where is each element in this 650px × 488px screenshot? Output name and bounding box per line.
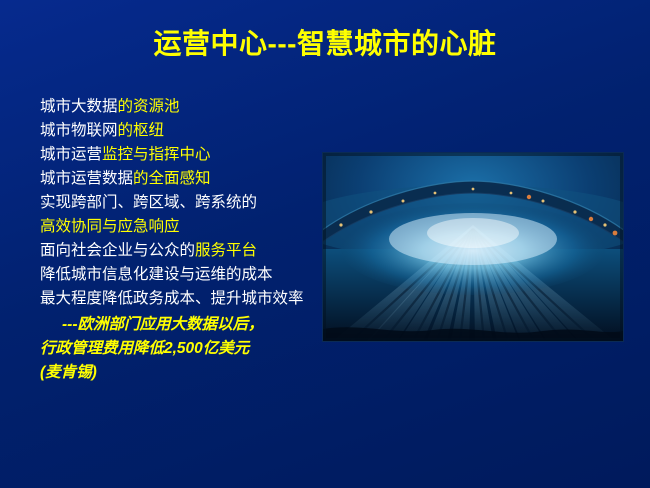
bullet-text-plain: 城市运营数据 <box>40 170 133 187</box>
bullet-text-plain: 城市物联网 <box>40 122 118 139</box>
list-item: 面向社会企业与公众的服务平台 <box>40 239 320 263</box>
list-item: 城市运营监控与指挥中心 <box>40 143 320 167</box>
bullet-text-plain: 城市大数据 <box>40 98 118 115</box>
quote-line: ---欧洲部门应用大数据以后， <box>40 313 320 337</box>
list-item: 实现跨部门、跨区域、跨系统的 <box>40 191 320 215</box>
quote-block: ---欧洲部门应用大数据以后， 行政管理费用降低2,500亿美元 (麦肯锡) <box>40 313 320 385</box>
list-item: 城市物联网的枢纽 <box>40 119 320 143</box>
slide-canvas: 运营中心---智慧城市的心脏 城市大数据的资源池 城市物联网的枢纽 城市运营监控… <box>0 0 650 488</box>
night-bridge-fountain-photo <box>322 152 624 342</box>
list-item: 城市大数据的资源池 <box>40 95 320 119</box>
bullet-text-plain: 实现跨部门、跨区域、跨系统的 <box>40 194 257 211</box>
list-item: 城市运营数据的全面感知 <box>40 167 320 191</box>
quote-line: (麦肯锡) <box>40 361 320 385</box>
bullet-text-highlight: 监控与指挥中心 <box>102 146 211 163</box>
bullet-text-highlight: 服务平台 <box>195 242 257 259</box>
bullet-list: 城市大数据的资源池 城市物联网的枢纽 城市运营监控与指挥中心 城市运营数据的全面… <box>40 95 320 385</box>
bullet-text-plain: 城市运营 <box>40 146 102 163</box>
page-title: 运营中心---智慧城市的心脏 <box>0 22 650 62</box>
bullet-text-plain: 面向社会企业与公众的 <box>40 242 195 259</box>
quote-line: 行政管理费用降低2,500亿美元 <box>40 337 320 361</box>
bullet-text-highlight: 的全面感知 <box>133 170 211 187</box>
list-item: 最大程度降低政务成本、提升城市效率 <box>40 287 320 311</box>
bullet-text-highlight: 的枢纽 <box>118 122 165 139</box>
list-item: 高效协同与应急响应 <box>40 215 320 239</box>
list-item: 降低城市信息化建设与运维的成本 <box>40 263 320 287</box>
bullet-text-highlight: 高效协同与应急响应 <box>40 218 180 235</box>
bullet-text-highlight: 的资源池 <box>118 98 180 115</box>
bullet-text-plain: 降低城市信息化建设与运维的成本 <box>40 266 273 283</box>
bullet-text-plain: 最大程度降低政务成本、提升城市效率 <box>40 290 304 307</box>
